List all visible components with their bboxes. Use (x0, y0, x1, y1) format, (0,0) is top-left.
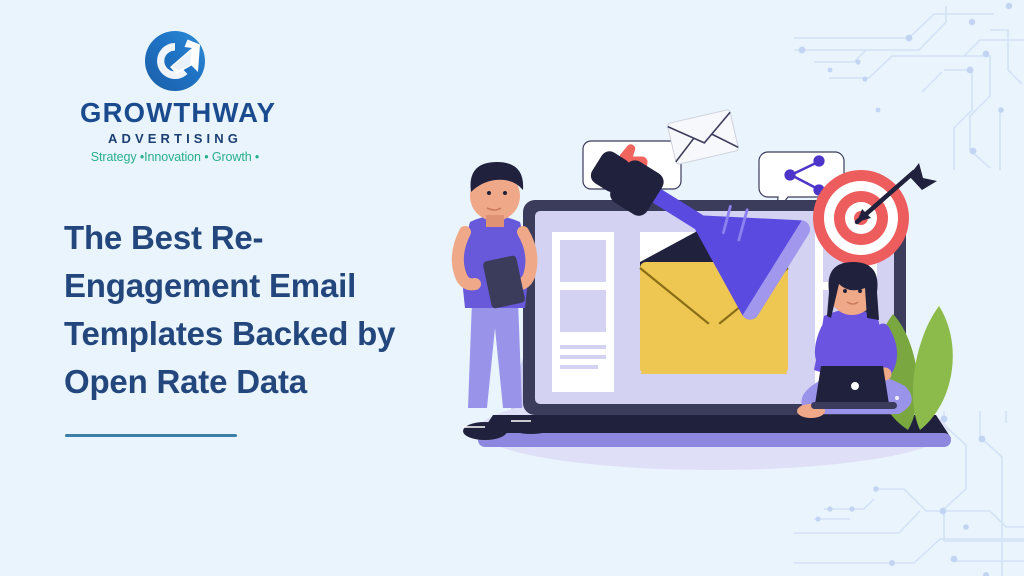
email-marketing-illustration (415, 0, 1024, 576)
screen-content-left (552, 232, 614, 392)
brand-name: GROWTHWAY (80, 99, 270, 128)
brand-header: GROWTHWAY ADVERTISING Strategy •Innovati… (64, 24, 464, 164)
brand-tagline: Strategy •Innovation • Growth • (80, 150, 270, 164)
brand-subtitle: ADVERTISING (80, 131, 270, 146)
title-divider (65, 434, 237, 437)
banner-canvas: GROWTHWAY ADVERTISING Strategy •Innovati… (0, 0, 1024, 576)
mail-envelope-icon (667, 109, 739, 164)
page-title: The Best Re-Engagement Email Templates B… (64, 214, 424, 406)
growthway-circular-arrow-logo (142, 24, 208, 96)
logo-block: GROWTHWAY ADVERTISING Strategy •Innovati… (80, 24, 270, 164)
